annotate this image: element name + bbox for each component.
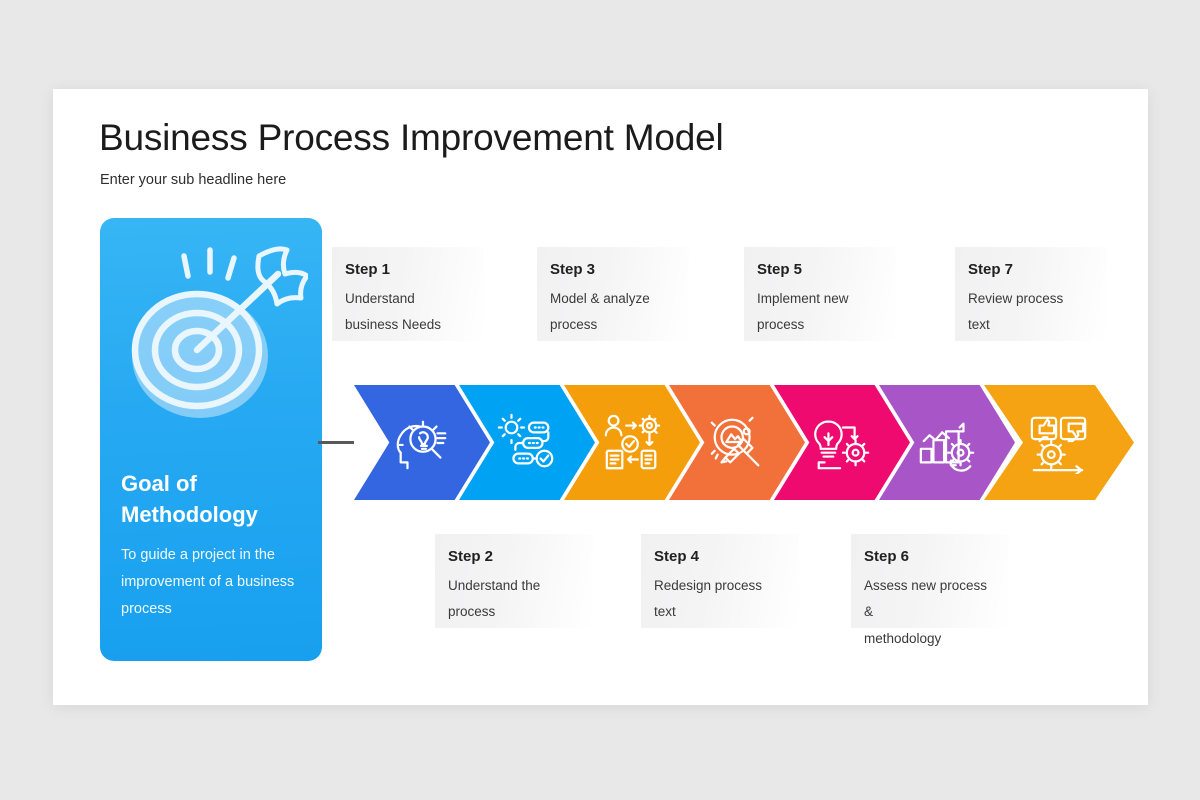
step-card-step-3[interactable]: Step 3Model & analyze process bbox=[537, 247, 689, 341]
step-description: Redesign process text bbox=[654, 573, 786, 626]
chevron-band bbox=[53, 385, 1148, 500]
step-description: Assess new process & methodology bbox=[864, 573, 996, 652]
step-description: Review process text bbox=[968, 286, 1094, 339]
step-title: Step 6 bbox=[864, 548, 996, 566]
step-description: Understand the process bbox=[448, 573, 580, 626]
step-card-step-2[interactable]: Step 2Understand the process bbox=[435, 534, 593, 628]
step-card-step-7[interactable]: Step 7Review process text bbox=[955, 247, 1107, 341]
step-title: Step 3 bbox=[550, 261, 676, 279]
page-title: Business Process Improvement Model bbox=[99, 117, 724, 159]
step-title: Step 1 bbox=[345, 261, 471, 279]
step-title: Step 4 bbox=[654, 548, 786, 566]
step-description: Understand business Needs bbox=[345, 286, 471, 339]
chevron-step-1[interactable] bbox=[354, 385, 490, 500]
step-description: Implement new process bbox=[757, 286, 883, 339]
step-card-step-6[interactable]: Step 6Assess new process & methodology bbox=[851, 534, 1009, 628]
step-card-step-4[interactable]: Step 4Redesign process text bbox=[641, 534, 799, 628]
step-title: Step 2 bbox=[448, 548, 580, 566]
lightbulb-gear-implement-icon bbox=[811, 412, 873, 474]
user-gear-document-cycle-icon bbox=[601, 412, 663, 474]
step-card-step-1[interactable]: Step 1Understand business Needs bbox=[332, 247, 484, 341]
page-subtitle: Enter your sub headline here bbox=[100, 172, 286, 188]
step-title: Step 5 bbox=[757, 261, 883, 279]
thumbs-review-gear-icon bbox=[1028, 412, 1090, 474]
bar-chart-gear-assess-icon bbox=[916, 412, 978, 474]
slide-canvas: Business Process Improvement Model Enter… bbox=[53, 89, 1148, 705]
goal-card-body: To guide a project in the improvement of… bbox=[121, 542, 311, 622]
step-card-step-5[interactable]: Step 5Implement new process bbox=[744, 247, 896, 341]
head-lightbulb-magnifier-icon bbox=[391, 412, 453, 474]
process-flow-gear-check-icon bbox=[496, 412, 558, 474]
step-description: Model & analyze process bbox=[550, 286, 676, 339]
step-title: Step 7 bbox=[968, 261, 1094, 279]
redesign-brush-palette-icon bbox=[706, 412, 768, 474]
